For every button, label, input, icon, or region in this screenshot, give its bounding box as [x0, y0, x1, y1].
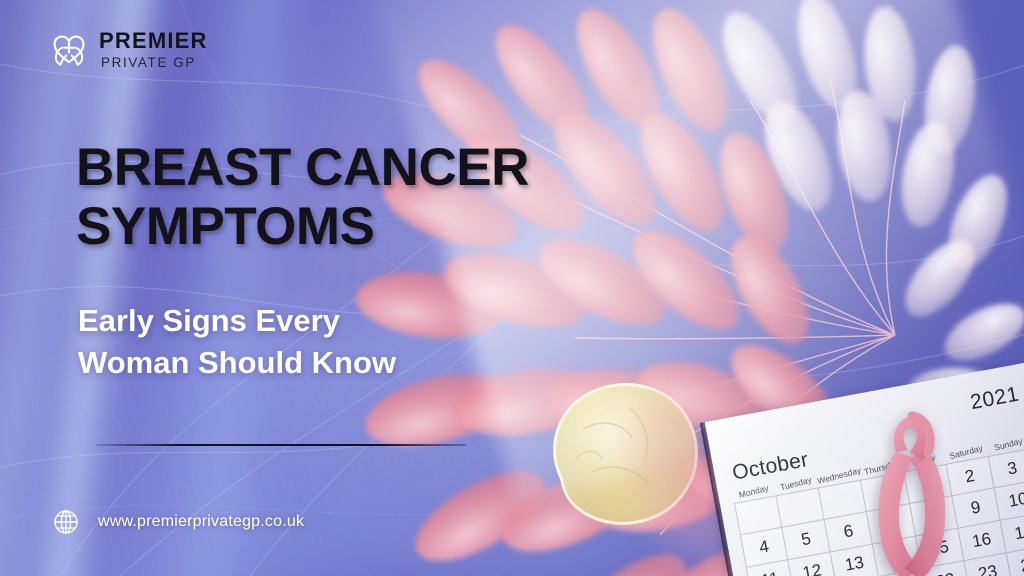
calendar-paper: 2021 October MondayTuesdayWednesdayThurs…: [705, 362, 1024, 576]
tumor-mass: [555, 385, 697, 524]
headline-line-1: BREAST CANCER: [76, 141, 596, 196]
brand-tagline: PRIVATE GP: [99, 56, 208, 70]
hands-heart-medical-cross-icon: [48, 28, 90, 70]
brand-logo[interactable]: PREMIER PRIVATE GP: [48, 28, 208, 70]
calendar-date-cell[interactable]: 10: [995, 481, 1024, 521]
footer: www.premierprivategp.co.uk: [53, 509, 304, 535]
brand-name: PREMIER: [99, 30, 208, 52]
october-2021-calendar: 2021 October MondayTuesdayWednesdayThurs…: [705, 362, 1024, 576]
headline-line-2: SYMPTOMS: [76, 200, 596, 255]
subheadline-line-1: Early Signs Every: [78, 300, 548, 342]
banner-root: PREMIER PRIVATE GP BREAST CANCER SYMPTOM…: [0, 0, 1024, 576]
light-streak: [139, 0, 320, 576]
page-title: BREAST CANCER SYMPTOMS: [76, 141, 596, 254]
website-url[interactable]: www.premierprivategp.co.uk: [98, 513, 304, 531]
divider: [96, 444, 466, 446]
light-streak: [8, 0, 182, 576]
light-streak: [0, 0, 172, 576]
calendar-year: 2021: [968, 383, 1021, 416]
calendar-date-cell[interactable]: 3: [989, 448, 1024, 488]
globe-icon: [53, 509, 79, 535]
subheadline-line-2: Woman Should Know: [78, 342, 548, 384]
spiral-binding: [708, 346, 1024, 430]
page-subtitle: Early Signs Every Woman Should Know: [78, 300, 548, 384]
